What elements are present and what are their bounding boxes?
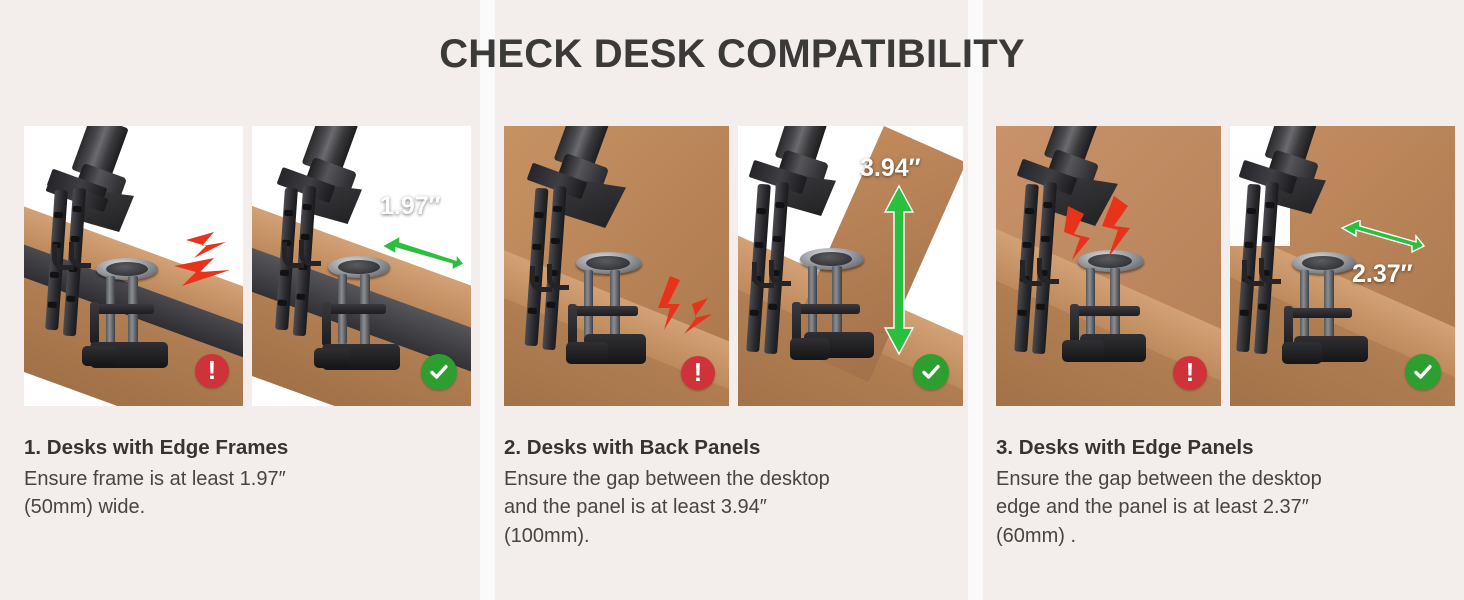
panel-desks-with-edge-panels: ! [996,126,1456,550]
red-zigzag-icon [1056,192,1146,264]
warning-badge: ! [195,354,229,388]
green-double-arrow-diagonal-icon [1338,220,1428,256]
caption-title: 1. Desks with Edge Frames [24,436,472,460]
caption-body: Ensure the gap between the desktop edge … [996,465,1456,550]
green-double-arrow-diagonal-icon [378,230,468,276]
photo-pair: ! [996,126,1456,406]
photo-pair: ! [24,126,472,406]
photo-incorrect-edge-frame: ! [24,126,243,406]
caption-title: 3. Desks with Edge Panels [996,436,1456,460]
photo-pair: ! [504,126,964,406]
photo-correct-back-panel: 3.94″ [738,126,963,406]
success-badge [1405,354,1441,390]
caption-block: 3. Desks with Edge Panels Ensure the gap… [996,436,1456,550]
measurement-label-1-97: 1.97″ [380,192,441,221]
measurement-label-2-37: 2.37″ [1352,260,1413,289]
panel-desks-with-back-panels: ! [504,126,964,550]
page-title: CHECK DESK COMPATIBILITY [0,32,1464,77]
warning-badge: ! [1173,356,1207,390]
caption-body: Ensure frame is at least 1.97″ (50mm) wi… [24,465,472,522]
red-zigzag-icon [650,274,720,346]
infographic-page: CHECK DESK COMPATIBILITY [0,0,1464,600]
warning-badge-glyph: ! [1186,359,1195,385]
caption-body: Ensure the gap between the desktop and t… [504,465,964,550]
green-double-arrow-vertical-icon [882,184,916,356]
panel-divider-2 [968,0,983,600]
check-icon [920,361,942,383]
photo-correct-edge-panel: 2.37″ [1230,126,1455,406]
caption-block: 1. Desks with Edge Frames Ensure frame i… [24,436,472,522]
panel-divider-1 [480,0,495,600]
warning-badge: ! [681,356,715,390]
red-zigzag-icon [164,230,234,292]
success-badge [913,354,949,390]
caption-block: 2. Desks with Back Panels Ensure the gap… [504,436,964,550]
photo-incorrect-edge-panel: ! [996,126,1221,406]
measurement-label-3-94: 3.94″ [860,154,921,183]
panel-desks-with-edge-frames: ! [24,126,472,522]
warning-badge-glyph: ! [208,357,217,383]
check-icon [428,361,450,383]
check-icon [1412,361,1434,383]
success-badge [421,354,457,390]
photo-incorrect-back-panel: ! [504,126,729,406]
photo-correct-edge-frame: 1.97″ [252,126,471,406]
caption-title: 2. Desks with Back Panels [504,436,964,460]
warning-badge-glyph: ! [694,359,703,385]
